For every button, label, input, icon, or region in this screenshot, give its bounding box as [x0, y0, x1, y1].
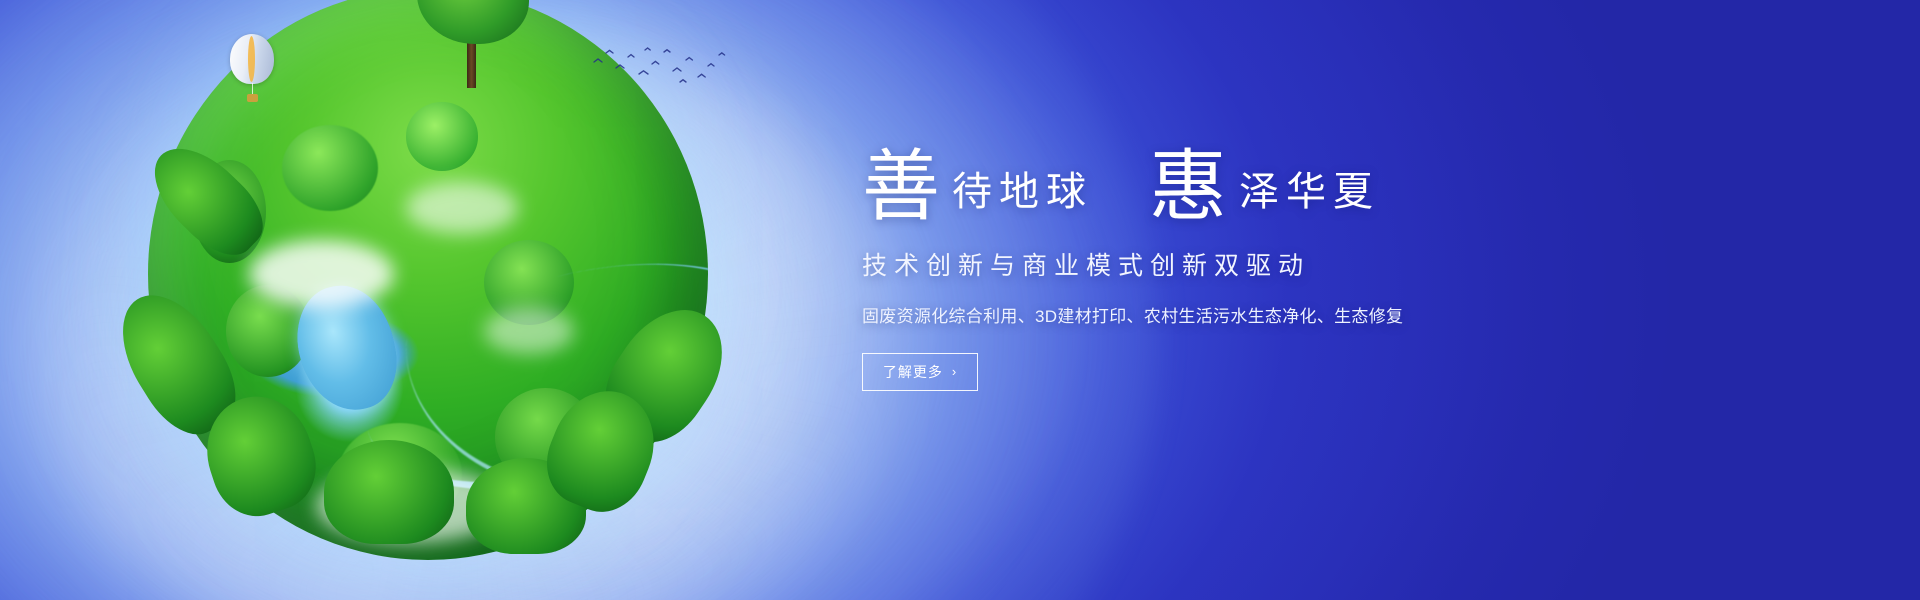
hero-description: 固废资源化综合利用、3D建材打印、农村生活污水生态净化、生态修复: [862, 302, 1762, 327]
hero-subtitle: 技术创新与商业模式创新双驱动: [862, 246, 1762, 282]
chevron-right-icon: ›: [952, 364, 957, 379]
headline-rest-1: 待地球: [952, 172, 1093, 212]
headline-lead-char-2: 惠: [1149, 150, 1227, 224]
learn-more-label: 了解更多: [883, 362, 943, 382]
headline: 善 待地球 惠 泽华夏: [862, 128, 1762, 220]
hero-copy: 善 待地球 惠 泽华夏 技术创新与商业模式创新双驱动 固废资源化综合利用、3D建…: [862, 128, 1762, 391]
hero-banner: 善 待地球 惠 泽华夏 技术创新与商业模式创新双驱动 固废资源化综合利用、3D建…: [0, 0, 1920, 600]
headline-rest-2: 泽华夏: [1239, 172, 1380, 212]
headline-phrase-one: 善 待地球: [862, 146, 1093, 220]
headline-phrase-two: 惠 泽华夏: [1149, 146, 1380, 220]
learn-more-button[interactable]: 了解更多 ›: [862, 353, 978, 391]
headline-lead-char-1: 善: [862, 150, 940, 224]
